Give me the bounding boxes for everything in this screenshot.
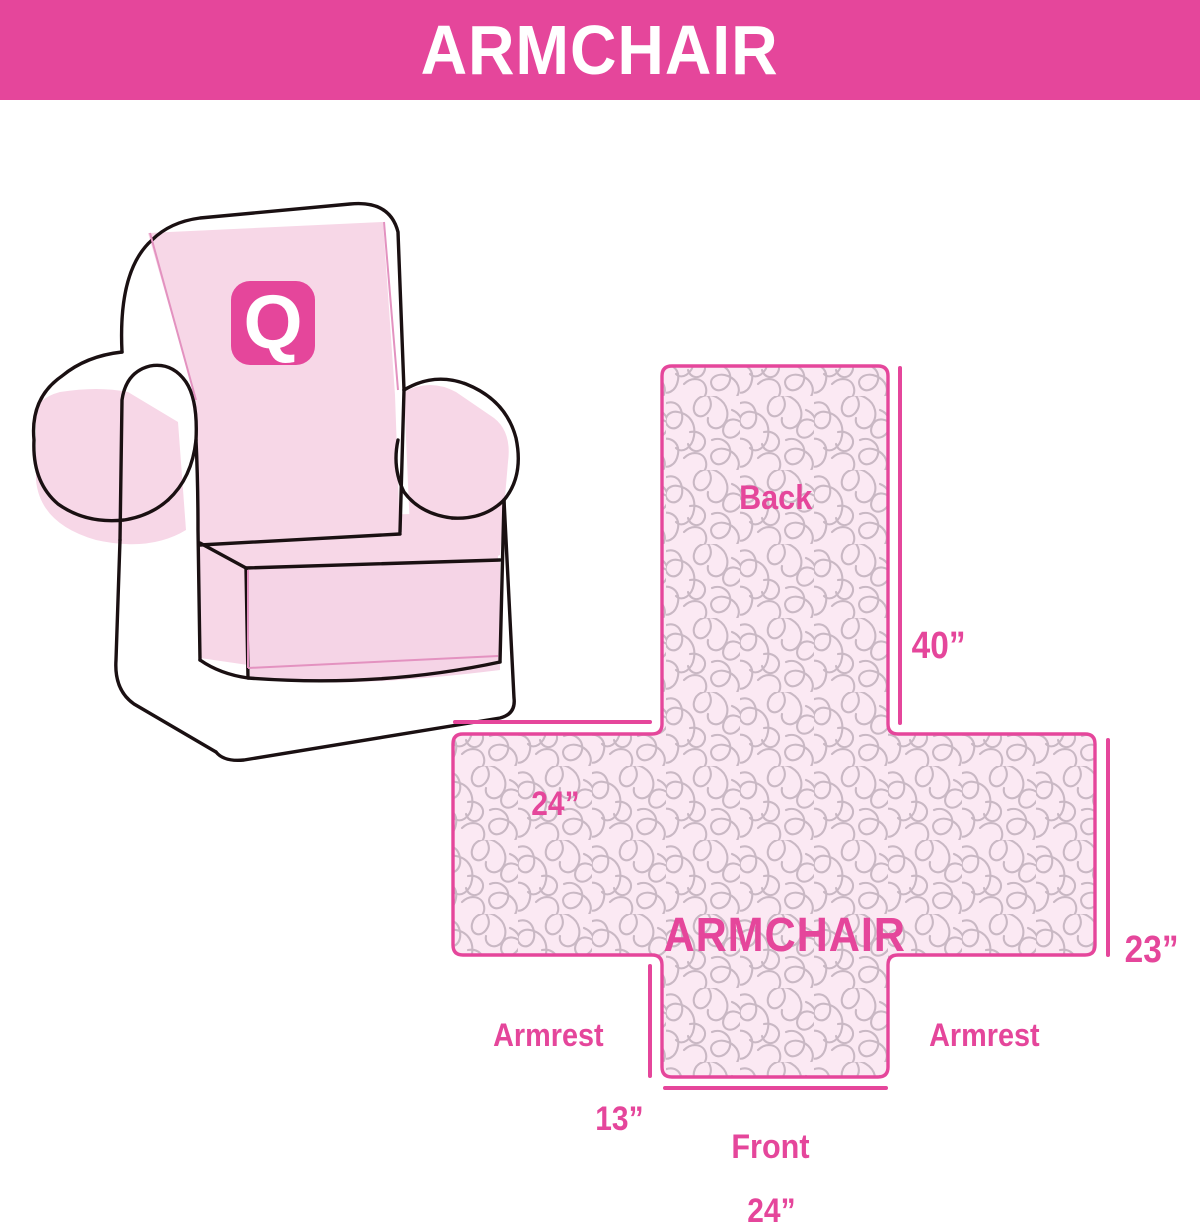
dimension-label-center-height: 23” bbox=[1125, 931, 1179, 969]
dimension-label-front-width: 24” bbox=[747, 1194, 795, 1228]
header-banner: ARMCHAIR bbox=[0, 0, 1200, 100]
dimension-label-front-height: 13” bbox=[595, 1102, 643, 1136]
dimension-label-back-width: 24” bbox=[531, 787, 579, 821]
diagram-canvas: Q bbox=[0, 100, 1200, 1200]
slipcover-flat-layout bbox=[0, 100, 1200, 1200]
dimension-label-back-height: 40” bbox=[912, 627, 966, 665]
page-title: ARMCHAIR bbox=[421, 15, 779, 85]
